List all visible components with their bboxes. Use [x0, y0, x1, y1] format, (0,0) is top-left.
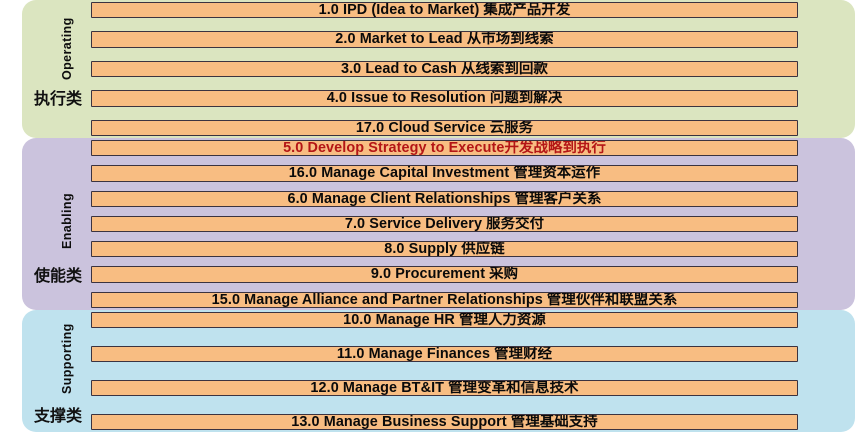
process-row[interactable]: 3.0 Lead to Cash 从线索到回款: [91, 61, 798, 77]
process-row-label: 12.0 Manage BT&IT 管理变革和信息技术: [310, 381, 578, 395]
process-row[interactable]: 1.0 IPD (Idea to Market) 集成产品开发: [91, 2, 798, 18]
band-supporting: Supporting 支撑类 10.0 Manage HR 管理人力资源 11.…: [22, 310, 855, 432]
process-row[interactable]: 16.0 Manage Capital Investment 管理资本运作: [91, 165, 798, 181]
band-label-enabling-cn: 使能类: [25, 262, 91, 286]
band-rows-enabling: 5.0 Develop Strategy to Execute开发战略到执行 1…: [91, 140, 798, 308]
band-label-supporting-en: Supporting: [60, 318, 76, 400]
process-row[interactable]: 8.0 Supply 供应链: [91, 241, 798, 257]
process-row-label: 3.0 Lead to Cash 从线索到回款: [341, 62, 548, 76]
process-row-highlighted[interactable]: 5.0 Develop Strategy to Execute开发战略到执行: [91, 140, 798, 156]
process-framework-diagram: Operating 执行类 1.0 IPD (Idea to Market) 集…: [0, 0, 865, 432]
process-row[interactable]: 11.0 Manage Finances 管理财经: [91, 346, 798, 362]
process-row[interactable]: 17.0 Cloud Service 云服务: [91, 120, 798, 136]
band-enabling: Enabling 使能类 5.0 Develop Strategy to Exe…: [22, 138, 855, 310]
band-label-operating: Operating 执行类: [22, 0, 91, 138]
process-row[interactable]: 13.0 Manage Business Support 管理基础支持: [91, 414, 798, 430]
process-row[interactable]: 9.0 Procurement 采购: [91, 266, 798, 282]
process-row-label: 2.0 Market to Lead 从市场到线索: [335, 32, 553, 46]
process-row[interactable]: 7.0 Service Delivery 服务交付: [91, 216, 798, 232]
band-label-supporting: Supporting 支撑类: [22, 310, 91, 432]
process-row-label: 17.0 Cloud Service 云服务: [356, 121, 533, 135]
process-row-label: 13.0 Manage Business Support 管理基础支持: [291, 415, 598, 429]
process-row-label: 11.0 Manage Finances 管理财经: [337, 347, 552, 361]
band-rows-operating: 1.0 IPD (Idea to Market) 集成产品开发 2.0 Mark…: [91, 2, 798, 136]
process-row-label: 15.0 Manage Alliance and Partner Relatio…: [212, 293, 678, 307]
process-row[interactable]: 2.0 Market to Lead 从市场到线索: [91, 31, 798, 47]
process-row-label: 7.0 Service Delivery 服务交付: [345, 217, 544, 231]
process-row-label: 5.0 Develop Strategy to Execute开发战略到执行: [283, 141, 606, 155]
process-row-label: 8.0 Supply 供应链: [384, 242, 505, 256]
process-row[interactable]: 12.0 Manage BT&IT 管理变革和信息技术: [91, 380, 798, 396]
process-row[interactable]: 15.0 Manage Alliance and Partner Relatio…: [91, 292, 798, 308]
band-label-supporting-cn: 支撑类: [25, 402, 91, 426]
band-label-enabling-en: Enabling: [60, 182, 76, 260]
band-rows-supporting: 10.0 Manage HR 管理人力资源 11.0 Manage Financ…: [91, 312, 798, 430]
band-label-operating-en: Operating: [60, 6, 76, 92]
band-label-operating-cn: 执行类: [25, 85, 91, 109]
process-row-label: 6.0 Manage Client Relationships 管理客户关系: [287, 192, 601, 206]
process-row-label: 1.0 IPD (Idea to Market) 集成产品开发: [319, 3, 571, 17]
band-operating: Operating 执行类 1.0 IPD (Idea to Market) 集…: [22, 0, 855, 138]
band-label-enabling: Enabling 使能类: [22, 138, 91, 310]
process-row[interactable]: 10.0 Manage HR 管理人力资源: [91, 312, 798, 328]
process-row-label: 16.0 Manage Capital Investment 管理资本运作: [289, 166, 601, 180]
process-row[interactable]: 4.0 Issue to Resolution 问题到解决: [91, 90, 798, 106]
process-row-label: 9.0 Procurement 采购: [371, 267, 518, 281]
process-row[interactable]: 6.0 Manage Client Relationships 管理客户关系: [91, 191, 798, 207]
process-row-label: 10.0 Manage HR 管理人力资源: [343, 313, 546, 327]
process-row-label: 4.0 Issue to Resolution 问题到解决: [327, 91, 563, 105]
